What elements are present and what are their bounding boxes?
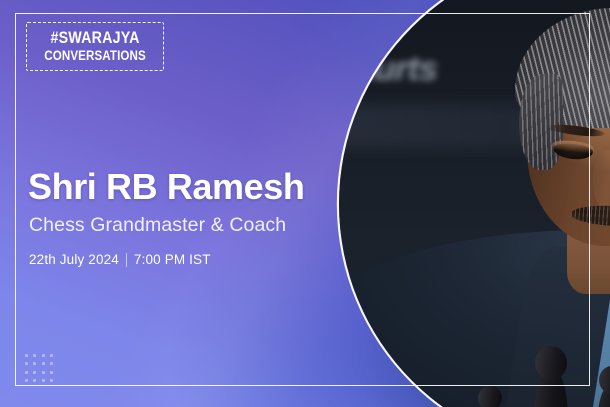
dot-grid-decoration <box>22 351 56 385</box>
swarajya-conversations-logo: #SWARAJYA CONVERSATIONS <box>26 22 164 71</box>
chess-piece-bishop <box>589 358 610 407</box>
speaker-portrait: nurts E <box>339 0 610 407</box>
event-details: 22th July 2024 7:00 PM IST <box>29 252 211 267</box>
event-date: 22th July 2024 <box>29 252 119 267</box>
hair-sideburn <box>519 74 563 170</box>
logo-line-hashtag: #SWARAJYA <box>45 29 144 46</box>
event-time: 7:00 PM IST <box>134 252 211 267</box>
portrait-image: nurts E <box>339 0 610 407</box>
chess-piece-king <box>525 336 577 407</box>
backdrop-text-primary: nurts <box>353 50 437 89</box>
chess-piece-pawn-left <box>471 380 509 407</box>
logo-line-conversations: CONVERSATIONS <box>44 49 146 63</box>
speaker-name: Shri RB Ramesh <box>28 166 304 208</box>
speaker-title: Chess Grandmaster & Coach <box>29 214 286 237</box>
promo-poster: nurts E <box>0 0 610 407</box>
event-separator <box>126 253 127 267</box>
